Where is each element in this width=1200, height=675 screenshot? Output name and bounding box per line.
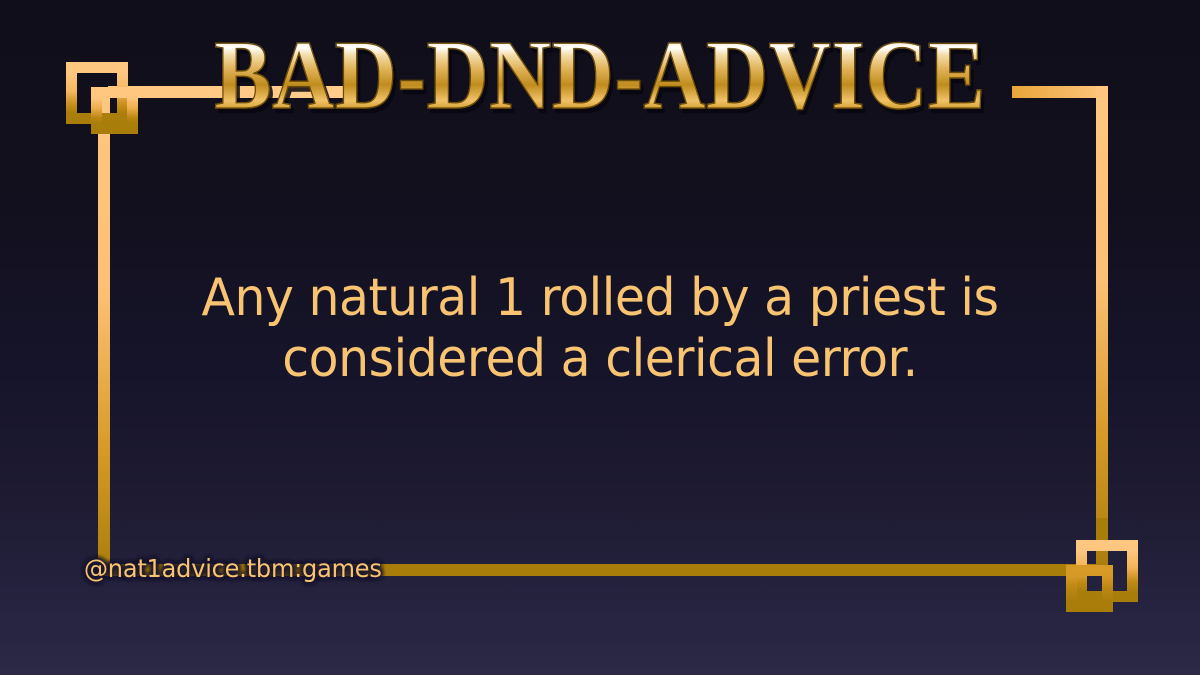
- card-title: BAD-DND-ADVICE: [0, 26, 1200, 124]
- card-quote-text: Any natural 1 rolled by a priest is cons…: [177, 268, 1023, 391]
- frame-left-line: [98, 92, 110, 576]
- corner-square-inner: [1066, 565, 1113, 612]
- frame-right-line: [1096, 86, 1108, 570]
- account-handle: @nat1advice.tbm:games: [84, 554, 382, 583]
- corner-ornament-bottom-right-icon: [1066, 540, 1138, 612]
- social-card: BAD-DND-ADVICE Any natural 1 rolled by a…: [0, 0, 1200, 675]
